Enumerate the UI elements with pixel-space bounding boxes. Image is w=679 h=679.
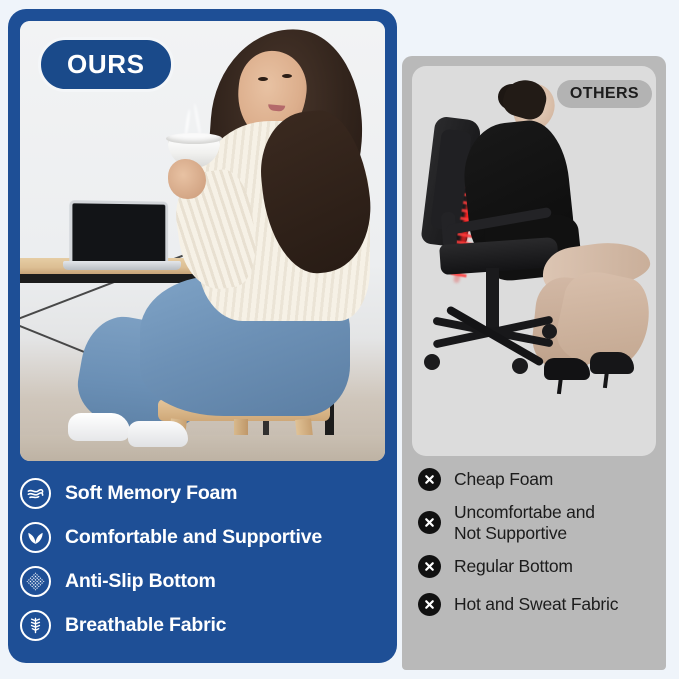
black-high-heel <box>544 358 590 380</box>
ours-feature-label: Soft Memory Foam <box>65 482 237 505</box>
ours-feature-list: Soft Memory Foam Comfortable and Support… <box>20 471 390 647</box>
woman-eye <box>258 77 268 81</box>
others-feature-label: Cheap Foam <box>454 469 553 490</box>
ours-feature-label: Comfortable and Supportive <box>65 526 322 549</box>
white-sneaker <box>128 421 188 447</box>
ours-feature-label: Breathable Fabric <box>65 614 226 637</box>
office-chair-wheel <box>424 354 440 370</box>
comparison-infographic: OURS Soft Memory Foam <box>0 0 679 679</box>
coffee-cup-rim <box>166 133 222 144</box>
anti-slip-mesh-icon <box>20 566 51 597</box>
office-chair-wheel <box>512 358 528 374</box>
others-feature-label: Uncomfortabe and Not Supportive <box>454 502 595 543</box>
breathable-fabric-icon <box>20 610 51 641</box>
laptop-base <box>63 261 181 270</box>
others-badge: OTHERS <box>557 80 652 108</box>
ours-feature-label: Anti-Slip Bottom <box>65 570 216 593</box>
woman-eye <box>282 74 292 78</box>
others-feature-label: Hot and Sweat Fabric <box>454 594 618 615</box>
ours-panel: OURS Soft Memory Foam <box>8 9 397 663</box>
ours-feature-item: Comfortable and Supportive <box>20 515 390 559</box>
others-feature-item: Uncomfortabe and Not Supportive <box>418 498 662 547</box>
others-feature-list: Cheap Foam Uncomfortabe and Not Supporti… <box>418 460 662 623</box>
others-panel: OTHERS Cheap Foam Uncomfortabe and Not S… <box>402 56 666 670</box>
x-mark-icon <box>418 511 441 534</box>
memory-foam-icon <box>20 478 51 509</box>
white-sneaker <box>68 413 130 441</box>
leaf-comfort-icon <box>20 522 51 553</box>
laptop-screen <box>69 200 168 264</box>
others-feature-item: Cheap Foam <box>418 460 662 498</box>
x-mark-icon <box>418 593 441 616</box>
others-feature-label: Regular Bottom <box>454 556 573 577</box>
x-mark-icon <box>418 555 441 578</box>
ours-feature-item: Soft Memory Foam <box>20 471 390 515</box>
woman-hand <box>168 159 206 199</box>
black-high-heel <box>590 352 634 374</box>
office-chair-post <box>486 268 499 330</box>
others-photo <box>412 66 656 456</box>
others-feature-item: Regular Bottom <box>418 547 662 585</box>
office-chair-wheel <box>542 324 557 339</box>
others-feature-item: Hot and Sweat Fabric <box>418 585 662 623</box>
ours-feature-item: Anti-Slip Bottom <box>20 559 390 603</box>
x-mark-icon <box>418 468 441 491</box>
ours-feature-item: Breathable Fabric <box>20 603 390 647</box>
ours-badge: OURS <box>38 37 174 92</box>
